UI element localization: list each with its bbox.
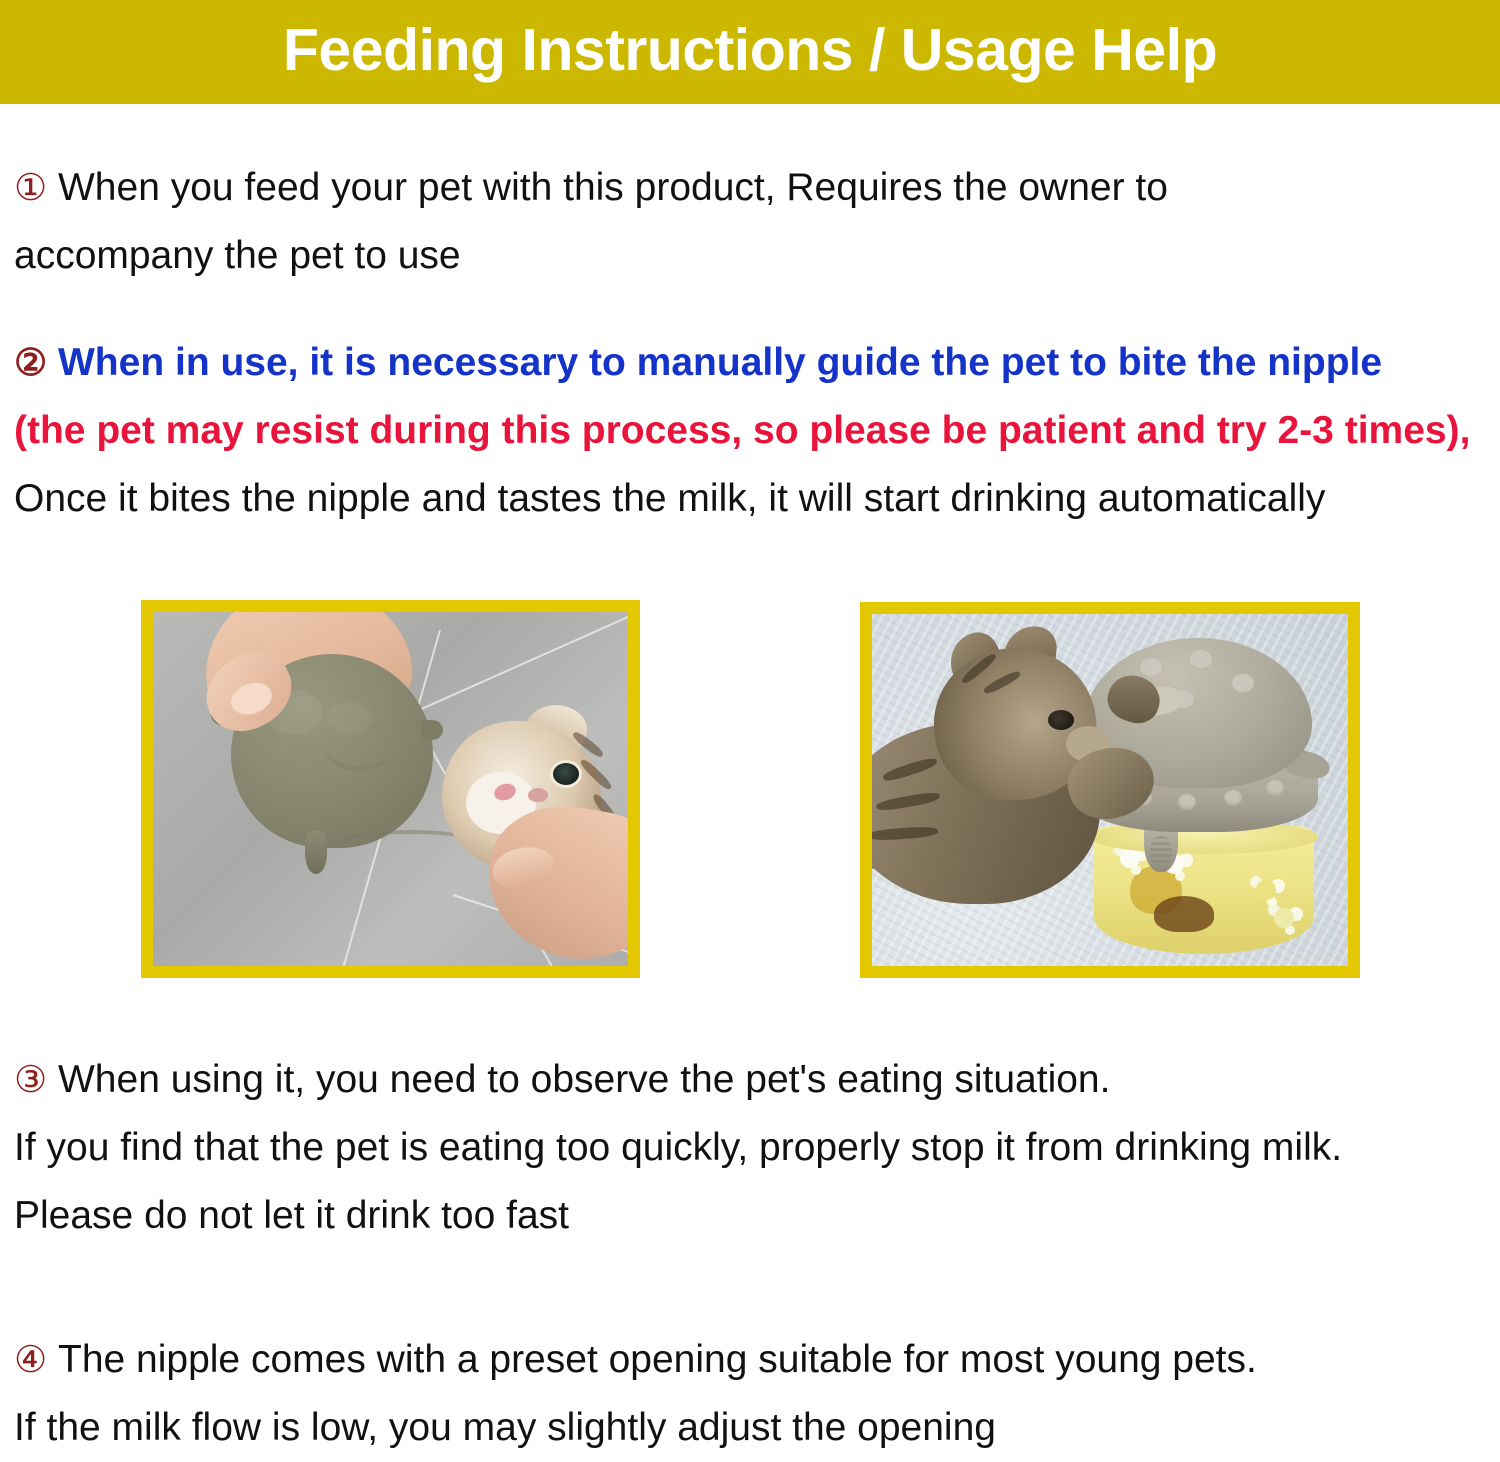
instruction-3-line-2: If you find that the pet is eating too q… (14, 1114, 1500, 1182)
instruction-1-line-1-text: When you feed your pet with this product… (58, 166, 1168, 209)
instruction-2-line-3-text: Once it bites the nipple and tastes the … (14, 477, 1325, 520)
instruction-4-line-1: ④The nipple comes with a preset opening … (14, 1326, 1500, 1394)
feeder-bump (1266, 780, 1284, 796)
feeder-dome-dot (1190, 650, 1212, 668)
feeder-bump (1178, 794, 1196, 810)
instruction-item-4: ④The nipple comes with a preset opening … (14, 1326, 1500, 1462)
photo-guide-bite-image (153, 612, 628, 966)
instruction-3-line-1: ③When using it, you need to observe the … (14, 1046, 1500, 1114)
instruction-3-line-2-text: If you find that the pet is eating too q… (14, 1126, 1342, 1169)
instruction-2-line-1-text: When in use, it is necessary to manually… (58, 341, 1382, 384)
feeder-smile-detail (323, 716, 395, 771)
feeder-side-nub-right (421, 720, 443, 740)
photo-kitten-drinking (860, 602, 1360, 978)
instruction-3-line-3: Please do not let it drink too fast (14, 1182, 1500, 1250)
list-marker-3: ③ (14, 1046, 58, 1114)
feeder-dome-dot (1140, 658, 1162, 676)
instruction-1-line-2: accompany the pet to use (14, 222, 1500, 290)
bowl-pattern-shape (1154, 896, 1214, 932)
instruction-item-1: ①When you feed your pet with this produc… (14, 154, 1500, 290)
page-title: Feeding Instructions / Usage Help (0, 0, 1500, 104)
list-marker-4: ④ (14, 1326, 58, 1394)
instruction-4-line-2-text: If the milk flow is low, you may slightl… (14, 1406, 996, 1449)
feeder-bump (1224, 790, 1242, 806)
instruction-3-line-1-text: When using it, you need to observe the p… (58, 1058, 1110, 1101)
instruction-1-line-2-text: accompany the pet to use (14, 234, 461, 277)
instruction-4-line-2: If the milk flow is low, you may slightl… (14, 1394, 1500, 1462)
bowl-flower (1120, 848, 1140, 868)
photo-guide-bite (141, 600, 640, 978)
bowl-flower (1274, 908, 1294, 928)
list-marker-2: ② (14, 329, 58, 397)
kitten-nose (528, 788, 548, 802)
bowl-flower (1256, 880, 1276, 900)
list-marker-1: ① (14, 154, 58, 222)
title-banner: Feeding Instructions / Usage Help (0, 0, 1500, 104)
kitten-eye (1048, 710, 1074, 730)
instruction-4-line-1-text: The nipple comes with a preset opening s… (58, 1338, 1257, 1381)
feeder-dome-dot (1232, 674, 1254, 692)
instruction-1-line-1: ①When you feed your pet with this produc… (14, 154, 1500, 222)
instruction-2-line-3: Once it bites the nipple and tastes the … (14, 465, 1500, 533)
instruction-2-line-2-text: (the pet may resist during this process,… (14, 409, 1470, 452)
feeder-nipple (305, 830, 327, 874)
photo-kitten-drinking-image (872, 614, 1348, 966)
instruction-3-line-3-text: Please do not let it drink too fast (14, 1194, 569, 1237)
kitten-eye (550, 760, 582, 788)
instruction-item-3: ③When using it, you need to observe the … (14, 1046, 1500, 1250)
instruction-2-line-2: (the pet may resist during this process,… (14, 397, 1500, 465)
instruction-item-2: ②When in use, it is necessary to manuall… (14, 329, 1500, 533)
instruction-2-line-1: ②When in use, it is necessary to manuall… (14, 329, 1500, 397)
